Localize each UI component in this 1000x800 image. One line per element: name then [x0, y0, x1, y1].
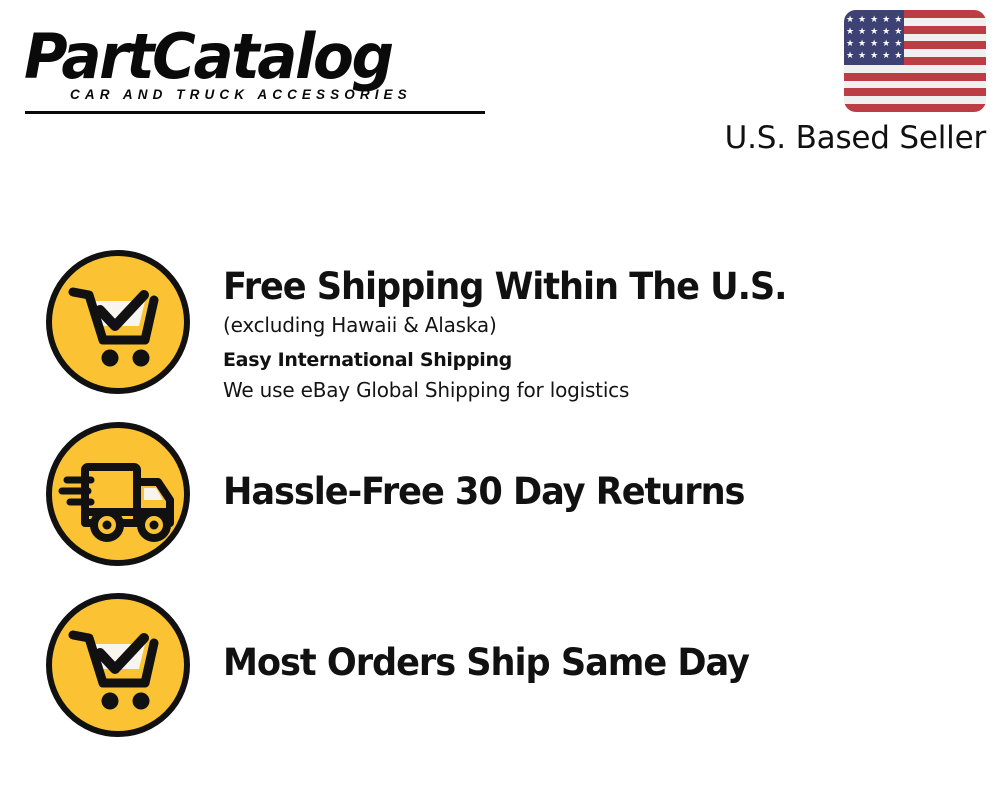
feature-text: Most Orders Ship Same Day: [192, 591, 1000, 686]
us-flag-icon: ★★★★★ ★★★★★ ★★★★★ ★★★★★: [844, 10, 986, 112]
flag-canton: ★★★★★ ★★★★★ ★★★★★ ★★★★★: [844, 10, 904, 65]
shopping-cart-check-icon: [44, 248, 192, 396]
feature-row: Most Orders Ship Same Day: [0, 591, 1000, 739]
feature-title: Most Orders Ship Same Day: [223, 640, 961, 686]
feature-sub-note: We use eBay Global Shipping for logistic…: [223, 376, 1000, 405]
page-header: PartCatalog CAR AND TRUCK ACCESSORIES ★★…: [0, 0, 1000, 170]
feature-title: Hassle-Free 30 Day Returns: [223, 469, 961, 515]
feature-text: Free Shipping Within The U.S. (excluding…: [192, 248, 1000, 405]
us-based-seller-label: U.S. Based Seller: [714, 118, 986, 158]
feature-row: Free Shipping Within The U.S. (excluding…: [0, 248, 1000, 405]
feature-row: Hassle-Free 30 Day Returns: [0, 420, 1000, 568]
brand-wordmark: PartCatalog: [24, 24, 475, 90]
brand-underline: [25, 111, 485, 114]
feature-text: Hassle-Free 30 Day Returns: [192, 420, 1000, 515]
feature-note: (excluding Hawaii & Alaska): [223, 310, 1000, 340]
feature-sub-title: Easy International Shipping: [223, 345, 1000, 376]
feature-title: Free Shipping Within The U.S.: [223, 264, 961, 310]
delivery-truck-icon: [44, 420, 192, 568]
brand-logo[interactable]: PartCatalog CAR AND TRUCK ACCESSORIES: [24, 24, 494, 114]
shopping-cart-check-icon: [44, 591, 192, 739]
us-based-seller-block: ★★★★★ ★★★★★ ★★★★★ ★★★★★ U.S. Based Selle…: [714, 10, 986, 158]
